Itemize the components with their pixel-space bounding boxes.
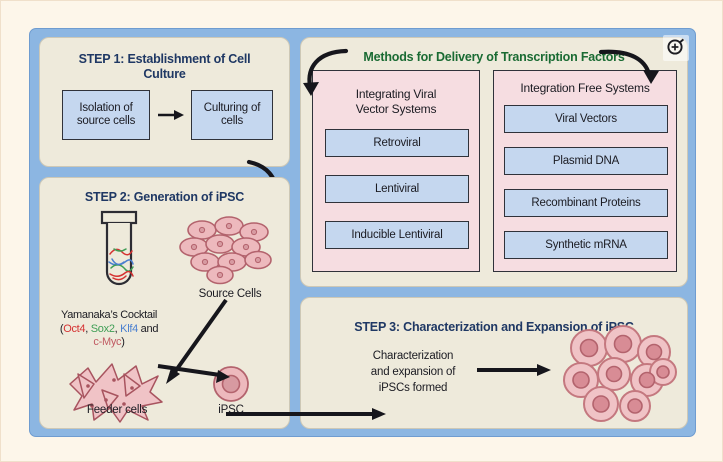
box-isolation-label-line-2: source cells bbox=[77, 115, 135, 128]
factors-suffix: ) bbox=[121, 336, 124, 348]
panel-step-3: STEP 3: Characterization and Expansion o… bbox=[300, 297, 688, 429]
arrow-cocktail-to-ipsc-icon bbox=[158, 366, 230, 383]
cocktail-factors-line-2: c-Myc) bbox=[40, 336, 178, 350]
group-1-heading-line-1: Integrating Viral bbox=[313, 87, 479, 101]
cocktail-title: Yamanaka’s Cocktail bbox=[40, 309, 178, 323]
ipsc-colony-icon bbox=[559, 322, 677, 422]
methods-title: Methods for Delivery of Transcription Fa… bbox=[301, 50, 687, 64]
factor-c-myc: c-Myc bbox=[93, 336, 121, 348]
diagram-canvas: STEP 1: Establishment of Cell Culture Is… bbox=[29, 28, 696, 437]
feeder-cells-caption: Feeder cells bbox=[58, 404, 176, 416]
source-cells-caption: Source Cells bbox=[180, 288, 280, 300]
method-inducible-lentiviral[interactable]: Inducible Lentiviral bbox=[325, 221, 469, 249]
step-3-body-line-3: iPSCs formed bbox=[353, 380, 473, 396]
group-1-heading-line-2: Vector Systems bbox=[313, 102, 479, 116]
method-lentiviral[interactable]: Lentiviral bbox=[325, 175, 469, 203]
cocktail-factors-line: (Oct4, Sox2, Klf4 and bbox=[40, 323, 178, 337]
step-2-title: STEP 2: Generation of iPSC bbox=[40, 190, 289, 205]
magnifier-plus-glyph bbox=[666, 38, 686, 58]
step-3-body: Characterization and expansion of iPSCs … bbox=[353, 348, 473, 396]
factor-sox2: Sox2 bbox=[91, 323, 115, 335]
magnifier-plus-icon[interactable] bbox=[663, 35, 689, 61]
method-recombinant-proteins[interactable]: Recombinant Proteins bbox=[504, 189, 668, 217]
right-arrow-icon bbox=[477, 364, 551, 376]
factor-oct4: Oct4 bbox=[63, 323, 85, 335]
box-isolation-label-line-1: Isolation of bbox=[79, 102, 132, 115]
source-cells-cluster-icon bbox=[180, 214, 280, 286]
panel-methods: Methods for Delivery of Transcription Fa… bbox=[300, 37, 688, 287]
method-viral-vectors[interactable]: Viral Vectors bbox=[504, 105, 668, 133]
step-3-title: STEP 3: Characterization and Expansion o… bbox=[301, 320, 687, 335]
test-tube-icon bbox=[92, 210, 152, 310]
ipsc-caption: iPSC bbox=[200, 404, 262, 416]
box-culturing-label-line-1: Culturing of bbox=[204, 102, 260, 115]
method-plasmid-dna[interactable]: Plasmid DNA bbox=[504, 147, 668, 175]
method-retroviral[interactable]: Retroviral bbox=[325, 129, 469, 157]
factor-klf4: Klf4 bbox=[120, 323, 138, 335]
step-1-title-line-2: Culture bbox=[40, 67, 289, 82]
group-integrating-viral-vector-systems: Integrating Viral Vector Systems Retrovi… bbox=[312, 70, 480, 272]
figure-page: STEP 1: Establishment of Cell Culture Is… bbox=[0, 0, 723, 462]
step-3-body-line-2: and expansion of bbox=[353, 364, 473, 380]
panel-step-1: STEP 1: Establishment of Cell Culture Is… bbox=[39, 37, 290, 167]
group-2-heading-line-1: Integration Free Systems bbox=[494, 81, 676, 95]
box-culturing-of-cells[interactable]: Culturing of cells bbox=[191, 90, 273, 140]
yamanaka-cocktail-label: Yamanaka’s Cocktail (Oct4, Sox2, Klf4 an… bbox=[40, 309, 178, 350]
factors-conjunction: and bbox=[138, 323, 158, 335]
crossing-arrows-svg bbox=[40, 178, 291, 430]
step-1-title-line-1: STEP 1: Establishment of Cell bbox=[40, 52, 289, 67]
box-isolation-of-source-cells[interactable]: Isolation of source cells bbox=[62, 90, 150, 140]
method-synthetic-mrna[interactable]: Synthetic mRNA bbox=[504, 231, 668, 259]
group-integration-free-systems: Integration Free Systems Viral Vectors P… bbox=[493, 70, 677, 272]
step-3-body-line-1: Characterization bbox=[353, 348, 473, 364]
panel-step-2: STEP 2: Generation of iPSC bbox=[39, 177, 290, 429]
right-arrow-icon bbox=[158, 110, 184, 120]
box-culturing-label-line-2: cells bbox=[221, 115, 243, 128]
